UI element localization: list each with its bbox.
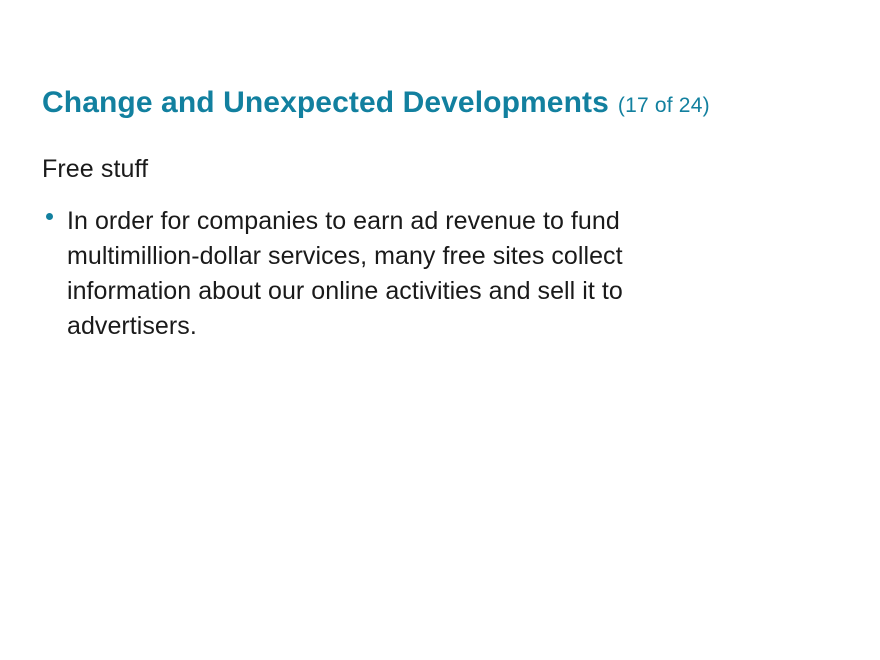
page-title-text: Change and Unexpected Developments [42, 86, 609, 119]
page-title: Change and Unexpected Developments(17 of… [42, 86, 856, 119]
list-item-text: In order for companies to earn ad revenu… [67, 207, 623, 340]
subheading: Free stuff [42, 152, 742, 186]
bullet-list: In order for companies to earn ad revenu… [42, 204, 742, 344]
bullet-dot-icon [46, 213, 53, 220]
slide-body: Free stuff In order for companies to ear… [42, 152, 742, 344]
list-item: In order for companies to earn ad revenu… [42, 204, 727, 344]
page-counter: (17 of 24) [618, 94, 710, 117]
slide: Change and Unexpected Developments(17 of… [0, 0, 880, 660]
